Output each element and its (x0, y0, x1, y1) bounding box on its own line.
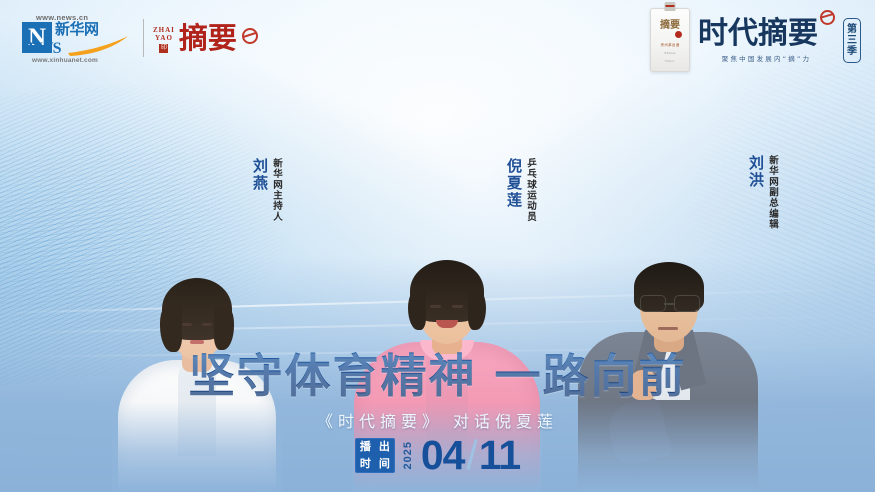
page-title: 坚守体育精神 一路向前 (0, 340, 875, 406)
guest-center-role: 乒乓球运动员 (525, 158, 536, 222)
header-right-logo-group: 摘要 贵州茅台酒 53%vol 500mL 时代摘要 聚焦中国发展内“摘”力 第… (650, 8, 861, 72)
bottle-line-1: 贵州茅台酒 (651, 43, 689, 48)
shidai-zhaiyao-subtitle: 聚焦中国发展内“摘”力 (698, 53, 835, 63)
bottle-cap-icon (665, 2, 676, 11)
broadcast-label-char-3: 时 (360, 458, 371, 470)
broadcast-month: 04 (421, 432, 465, 478)
season-badge: 第 三 季 (843, 18, 861, 63)
xinhua-news-logo: www.news.cn N 新华网 EWS www.xinhuanet.com (22, 14, 134, 62)
zhaiyao-cn-wordmark: 摘要 (179, 23, 237, 53)
nameplate-center: 倪夏莲 乒乓球运动员 (506, 158, 536, 222)
season-char-1: 第 (847, 24, 857, 35)
bottle-line-3: 500mL (651, 59, 689, 63)
header-left-logo-group: www.news.cn N 新华网 EWS www.xinhuanet.com … (22, 14, 258, 62)
zhaiyao-ring-icon (242, 28, 258, 44)
page-subtitle: 《时代摘要》 对话倪夏莲 (0, 408, 875, 432)
header-logo-divider (143, 19, 144, 57)
broadcast-date-separator: / (466, 432, 476, 478)
broadcast-label-char-2: 出 (379, 441, 390, 453)
guest-right-role: 新华网副总编辑 (767, 155, 778, 230)
broadcast-label-char-4: 间 (379, 458, 390, 470)
xinhua-swoosh-icon (68, 36, 130, 56)
zhaiyao-pinyin-1: ZHAI (153, 26, 175, 34)
zhaiyao-seal-icon: 印 (159, 44, 168, 53)
broadcast-dateline: 播 出 时 间 2025 04/11 (0, 435, 875, 476)
season-char-3: 季 (847, 46, 857, 57)
shidai-zhaiyao-ring-icon (820, 10, 835, 25)
guest-right-name: 刘洪 (748, 155, 764, 189)
shidai-zhaiyao-title: 时代摘要 (698, 18, 818, 50)
broadcast-label-box: 播 出 时 间 (355, 438, 395, 473)
zhaiyao-pinyin-2: YAO (155, 34, 173, 42)
bottle-line-2: 53%vol (651, 51, 689, 55)
broadcast-day: 11 (479, 432, 520, 478)
guest-left-name: 刘燕 (252, 158, 268, 192)
broadcast-month-day: 04/11 (421, 435, 520, 476)
nameplate-left: 刘燕 新华网主持人 (252, 158, 282, 222)
xinhua-en-name: EWS (28, 40, 61, 58)
broadcast-label-char-1: 播 (360, 441, 371, 453)
bottle-red-dot-icon (675, 31, 682, 38)
zhaiyao-logo: ZHAI YAO 印 摘要 (153, 23, 258, 53)
guest-center-name: 倪夏莲 (506, 158, 522, 209)
broadcast-year: 2025 (402, 441, 414, 469)
season-char-2: 三 (847, 35, 857, 46)
guest-right-glasses (640, 295, 666, 312)
guest-left-role: 新华网主持人 (271, 158, 282, 222)
xinhua-url-bottom: www.xinhuanet.com (32, 57, 98, 64)
poster-canvas: 刘燕 新华网主持人 倪夏莲 乒乓球运动员 (0, 0, 875, 492)
shidai-zhaiyao-wordmark: 时代摘要 聚焦中国发展内“摘”力 (698, 18, 835, 63)
nameplate-right: 刘洪 新华网副总编辑 (748, 155, 778, 230)
zhaiyao-bottle-icon: 摘要 贵州茅台酒 53%vol 500mL (650, 8, 690, 72)
bottle-brand-label: 摘要 (651, 21, 689, 31)
